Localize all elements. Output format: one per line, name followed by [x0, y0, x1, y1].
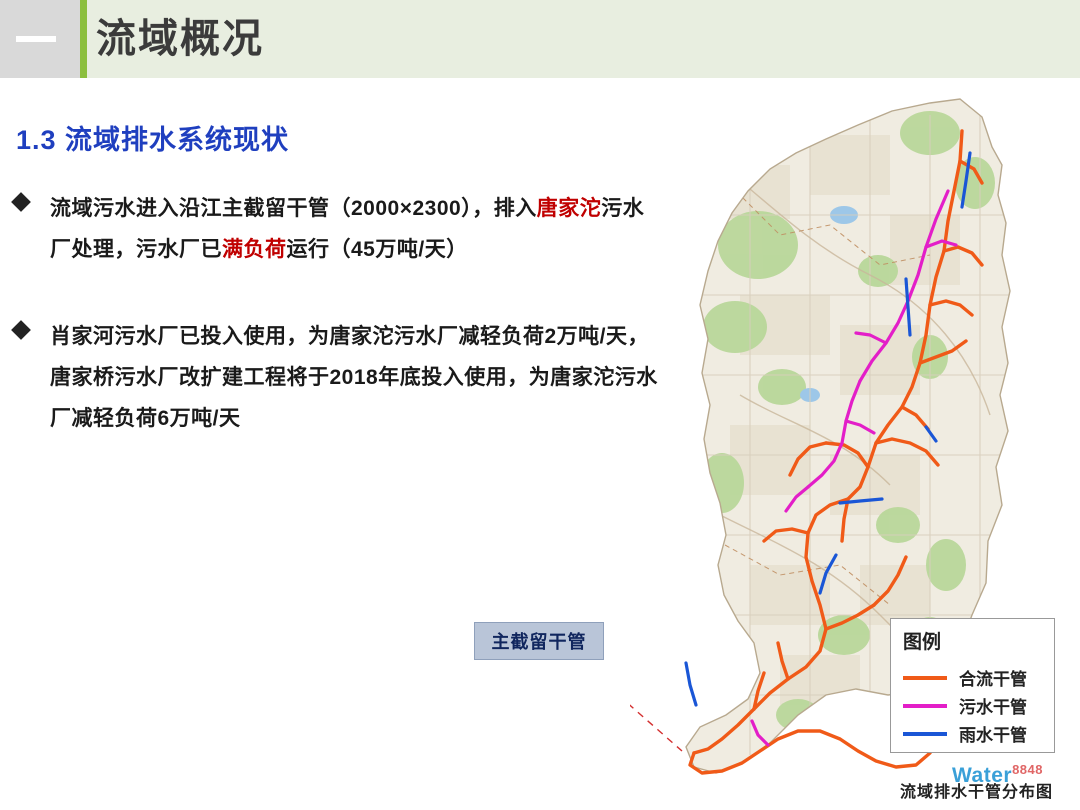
bullet-item: 肖家河污水厂已投入使用，为唐家沱污水厂减轻负荷2万吨/天，唐家桥污水厂改扩建工程… [10, 316, 658, 439]
slide-header: 流域概况 [0, 0, 1080, 78]
bullet-item: 流域污水进入沿江主截留干管（2000×2300），排入唐家沱污水厂处理，污水厂已… [10, 188, 658, 270]
legend-item-storm: 雨水干管 [903, 721, 1027, 746]
legend-swatch-combined [903, 676, 947, 680]
callout-leader-line [630, 635, 682, 751]
header-accent-bar [80, 0, 87, 78]
section-title: 1.3 流域排水系统现状 [16, 118, 289, 157]
map-legend: 图例 合流干管 污水干管 雨水干管 [890, 618, 1055, 753]
legend-label-storm: 雨水干管 [959, 721, 1027, 746]
legend-item-sewage: 污水干管 [903, 693, 1027, 718]
header-dash-mark [16, 36, 56, 42]
legend-title: 图例 [903, 627, 941, 654]
legend-item-combined: 合流干管 [903, 665, 1027, 690]
watermark-suffix: 8848 [1012, 762, 1043, 777]
watermark: Water8848 [952, 762, 1043, 788]
legend-label-sewage: 污水干管 [959, 693, 1027, 718]
diamond-bullet-icon [11, 192, 31, 212]
bullet-list: 流域污水进入沿江主截留干管（2000×2300），排入唐家沱污水厂处理，污水厂已… [10, 188, 658, 473]
callout-main-interceptor: 主截留干管 [474, 622, 604, 660]
legend-swatch-sewage [903, 704, 947, 708]
watermark-text: Water [952, 764, 1012, 787]
bullet-text-1: 流域污水进入沿江主截留干管（2000×2300），排入唐家沱污水厂处理，污水厂已… [50, 197, 644, 261]
legend-swatch-storm [903, 732, 947, 736]
diamond-bullet-icon [11, 320, 31, 340]
page-title: 流域概况 [96, 12, 264, 66]
bullet-text-2: 肖家河污水厂已投入使用，为唐家沱污水厂减轻负荷2万吨/天，唐家桥污水厂改扩建工程… [50, 325, 658, 430]
legend-label-combined: 合流干管 [959, 665, 1027, 690]
